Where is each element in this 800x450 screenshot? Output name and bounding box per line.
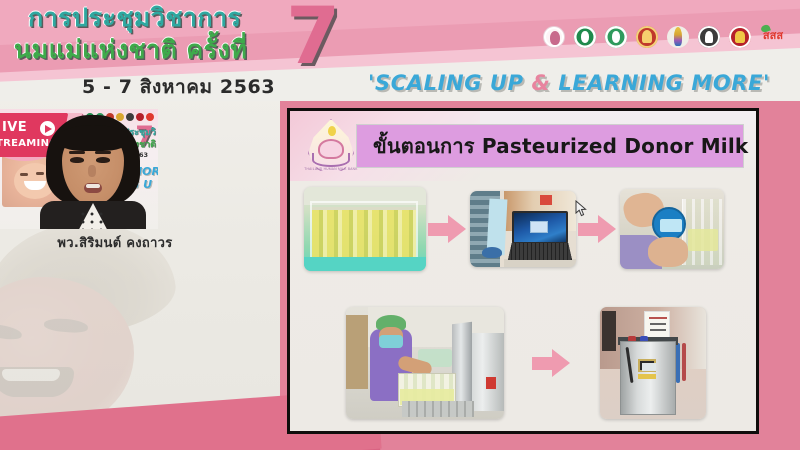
- thai-breastfeeding-foundation-logo: [541, 26, 567, 60]
- department-of-health-logo: [603, 26, 629, 60]
- laptop-data-recording-workstation-photo: [470, 191, 576, 267]
- speaker-name-caption: พว.สิริมนต์ คงถาวร: [0, 232, 230, 253]
- donor-milk-bottles-in-rack-photo: [304, 187, 426, 271]
- screen: การประชุมวิชาการ นมแม่แห่งชาติ ครั้งที่ …: [0, 0, 800, 450]
- live-badge-label: IVE: [2, 120, 27, 135]
- mouse-pointer: [575, 200, 588, 218]
- process-row-2: [346, 307, 748, 419]
- presenter-figure: [40, 115, 146, 229]
- stainless-steel-milk-storage-freezer-photo: [600, 307, 706, 419]
- royal-emblem-logo: [634, 26, 660, 60]
- nursing-council-logo: [696, 26, 722, 60]
- organization-logos-strip: สสส: [541, 26, 788, 60]
- presentation-slide[interactable]: THAILAND HUMAN MILK BANK ขั้นตอนการ Past…: [287, 108, 759, 434]
- royal-college-logo: [665, 26, 691, 60]
- process-arrow-1: [426, 212, 470, 246]
- logo-ring-text: THAILAND HUMAN MILK BANK: [304, 161, 358, 177]
- tagline-suffix: LEARNING MORE': [550, 71, 770, 95]
- conference-date: 5 - 7 สิงหาคม 2563: [82, 72, 275, 101]
- speaker-video-overlay[interactable]: 7 ารประชุมวิ มแม่แห่งชาติ 5 - 7 สิงหาคม …: [0, 109, 158, 229]
- conference-tagline: 'SCALING UP & LEARNING MORE': [368, 71, 770, 95]
- human-milk-bank-drop-logo: THAILAND HUMAN MILK BANK: [302, 117, 360, 179]
- slide-title: ขั้นตอนการ Pasteurized Donor Milk: [356, 124, 744, 168]
- process-row-1: [304, 187, 748, 271]
- tagline-prefix: 'SCALING UP: [368, 71, 532, 95]
- conference-title-line2: นมแม่แห่งชาติ ครั้งที่: [14, 36, 304, 64]
- ministry-of-public-health-logo: [572, 26, 598, 60]
- process-arrow-3: [530, 346, 574, 380]
- thaihealth-sss-logo: สสส: [758, 26, 788, 60]
- tagline-ampersand: &: [532, 71, 551, 95]
- pediatric-society-logo: [727, 26, 753, 60]
- nurse-loading-bottles-into-pasteurizer-photo: [346, 307, 504, 419]
- hand-holding-digital-thermometer-gauge-photo: [620, 189, 724, 269]
- conference-title-line1: การประชุมวิชาการ: [28, 4, 296, 32]
- conference-edition-number: 7: [286, 2, 340, 74]
- conference-header-banner: การประชุมวิชาการ นมแม่แห่งชาติ ครั้งที่ …: [0, 0, 800, 101]
